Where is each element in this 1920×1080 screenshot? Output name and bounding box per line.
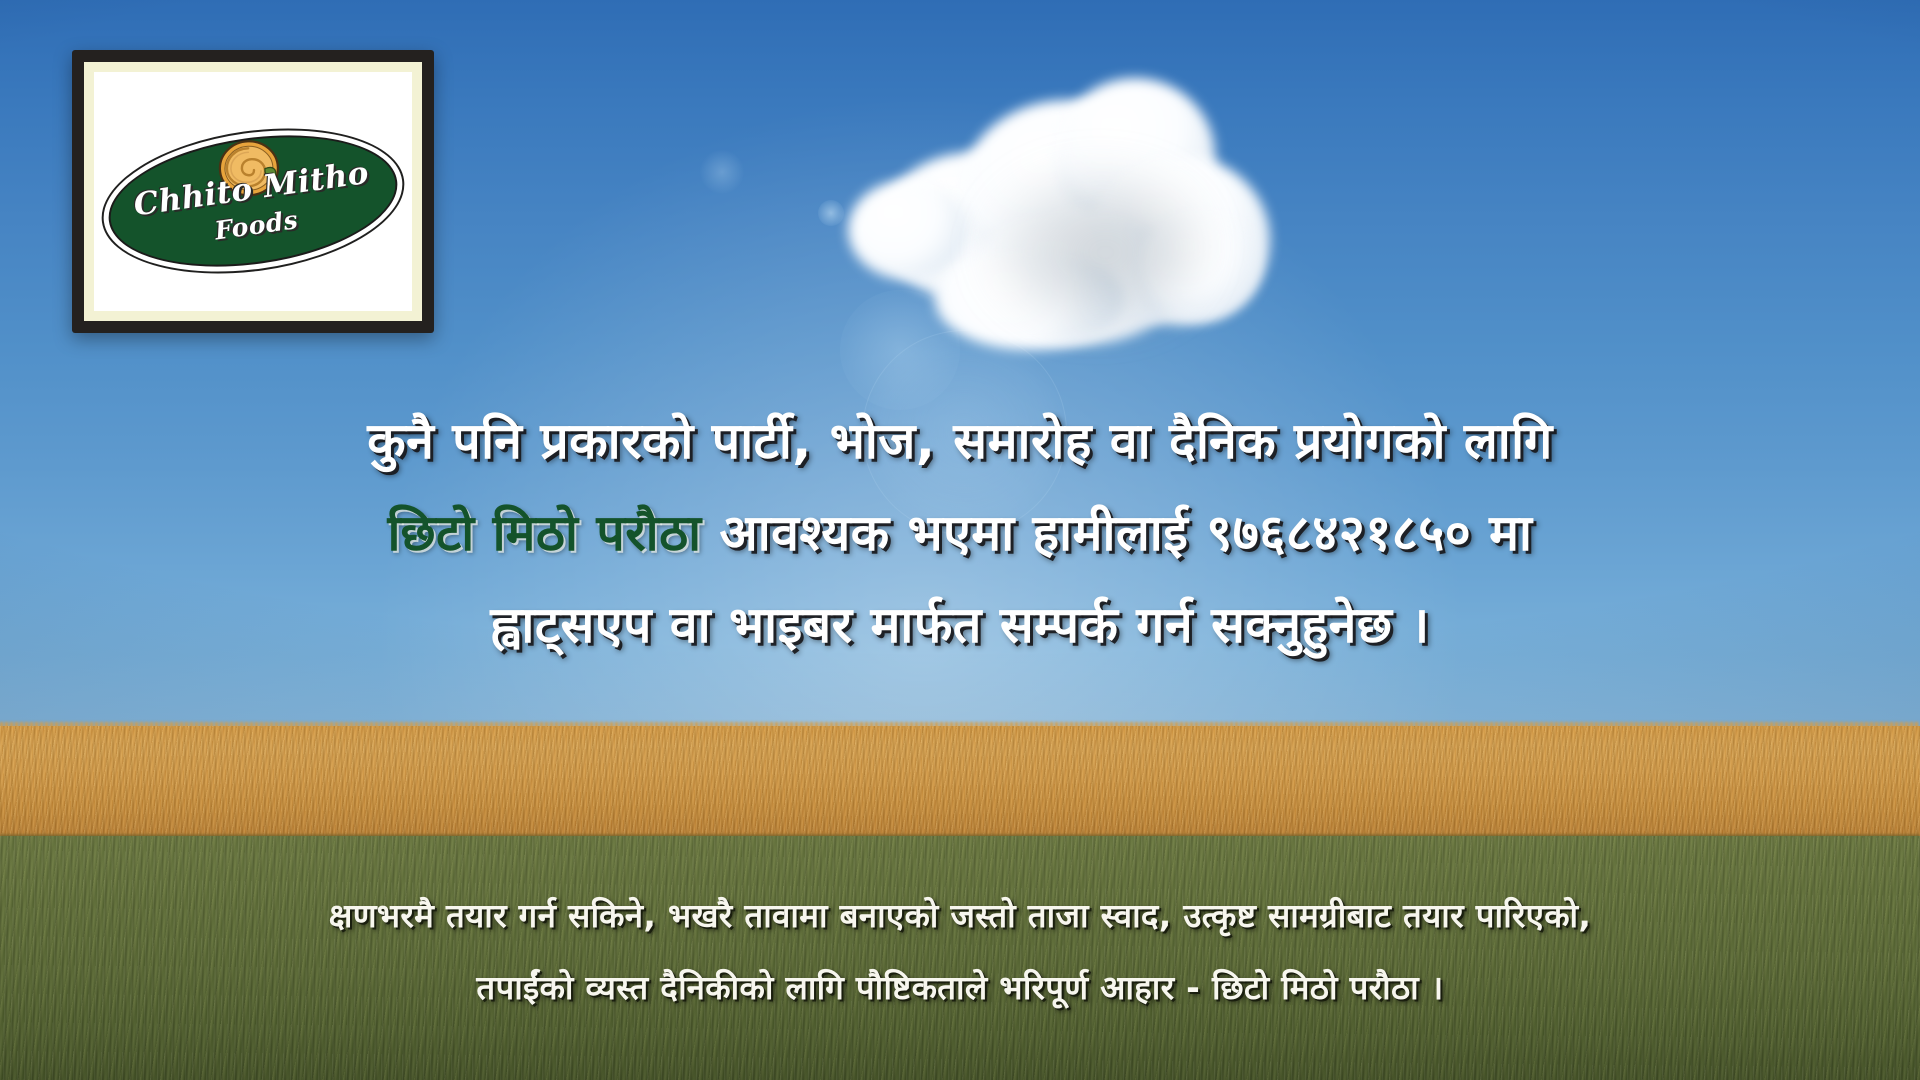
tagline-block: क्षणभरमै तयार गर्न सकिने, भखरै तावामा बन… — [0, 880, 1920, 1024]
headline-block: कुनै पनि प्रकारको पार्टी, भोज, समारोह वा… — [0, 395, 1920, 671]
headline-line-1: कुनै पनि प्रकारको पार्टी, भोज, समारोह वा… — [0, 395, 1920, 487]
tagline-line-2: तपाईंको व्यस्त दैनिकीको लागि पौष्टिकताले… — [0, 952, 1920, 1024]
advertisement-poster: Chhito Mitho Foods कुनै पनि प्रकारको पार… — [0, 0, 1920, 1080]
headline-brand-name: छिटो मिठो परौठा — [388, 504, 702, 562]
wheat-field — [0, 726, 1920, 838]
brand-badge: Chhito Mitho Foods — [94, 111, 412, 292]
logo-frame: Chhito Mitho Foods — [72, 50, 434, 333]
headline-line-2-rest: आवश्यक भएमा हामीलाई ९७६८४२१८५० मा — [702, 504, 1533, 562]
logo-canvas: Chhito Mitho Foods — [94, 72, 412, 311]
logo-mat: Chhito Mitho Foods — [84, 62, 422, 321]
cloud-icon — [840, 60, 1270, 360]
headline-line-2: छिटो मिठो परौठा आवश्यक भएमा हामीलाई ९७६८… — [0, 487, 1920, 579]
headline-line-3: ह्वाट्सएप वा भाइबर मार्फत सम्पर्क गर्न स… — [0, 579, 1920, 671]
tagline-line-1: क्षणभरमै तयार गर्न सकिने, भखरै तावामा बन… — [0, 880, 1920, 952]
